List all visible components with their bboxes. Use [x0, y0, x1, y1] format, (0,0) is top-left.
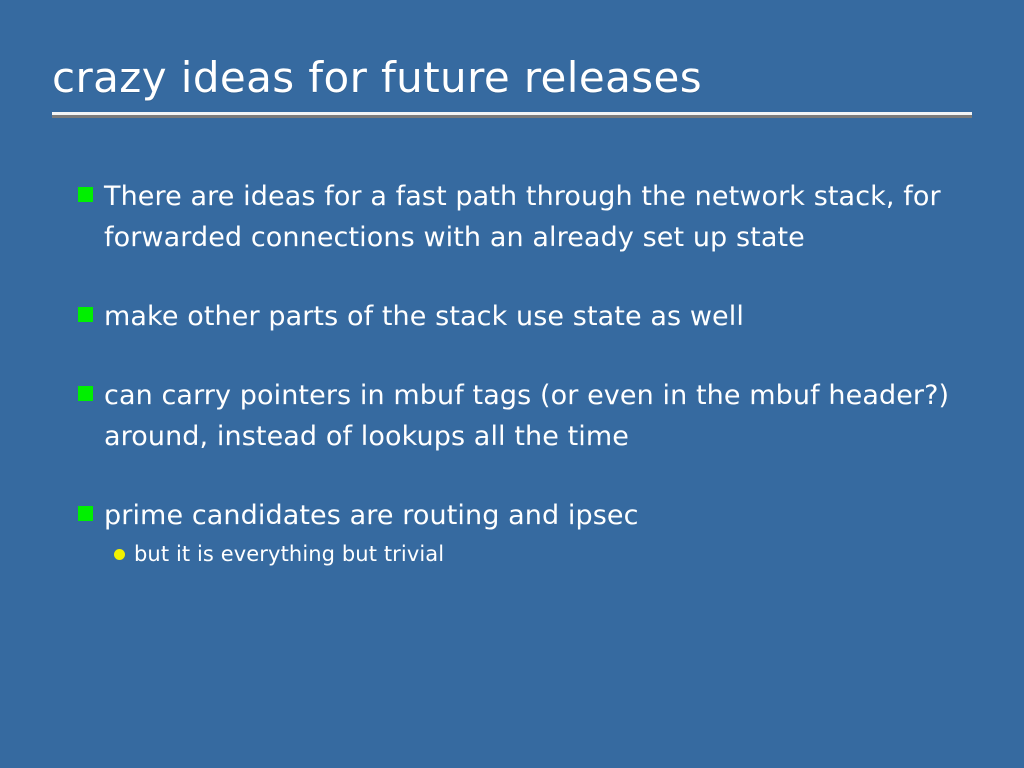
bullet-text: prime candidates are routing and ipsec [104, 495, 958, 536]
list-item: make other parts of the stack use state … [78, 296, 958, 337]
green-square-bullet-icon [78, 187, 93, 202]
bullet-group: There are ideas for a fast path through … [78, 176, 958, 258]
slide-title-block: crazy ideas for future releases [52, 52, 972, 118]
bullet-text: make other parts of the stack use state … [104, 296, 958, 337]
sub-bullet-text: but it is everything but trivial [134, 538, 958, 570]
list-item: prime candidates are routing and ipsec [78, 495, 958, 536]
bullet-text: There are ideas for a fast path through … [104, 176, 958, 258]
green-square-bullet-icon [78, 386, 93, 401]
yellow-dot-bullet-icon [114, 549, 125, 560]
title-underline-rule [52, 112, 972, 118]
green-square-bullet-icon [78, 307, 93, 322]
bullet-group: can carry pointers in mbuf tags (or even… [78, 375, 958, 457]
sub-list-item: but it is everything but trivial [114, 538, 958, 570]
presentation-slide: crazy ideas for future releases There ar… [0, 0, 1024, 768]
list-item: There are ideas for a fast path through … [78, 176, 958, 258]
sub-bullet-list: but it is everything but trivial [78, 538, 958, 570]
page-title: crazy ideas for future releases [52, 52, 972, 104]
slide-body: There are ideas for a fast path through … [78, 176, 958, 570]
list-item: can carry pointers in mbuf tags (or even… [78, 375, 958, 457]
green-square-bullet-icon [78, 506, 93, 521]
bullet-text: can carry pointers in mbuf tags (or even… [104, 375, 958, 457]
bullet-group: make other parts of the stack use state … [78, 296, 958, 337]
bullet-group: prime candidates are routing and ipsec b… [78, 495, 958, 570]
